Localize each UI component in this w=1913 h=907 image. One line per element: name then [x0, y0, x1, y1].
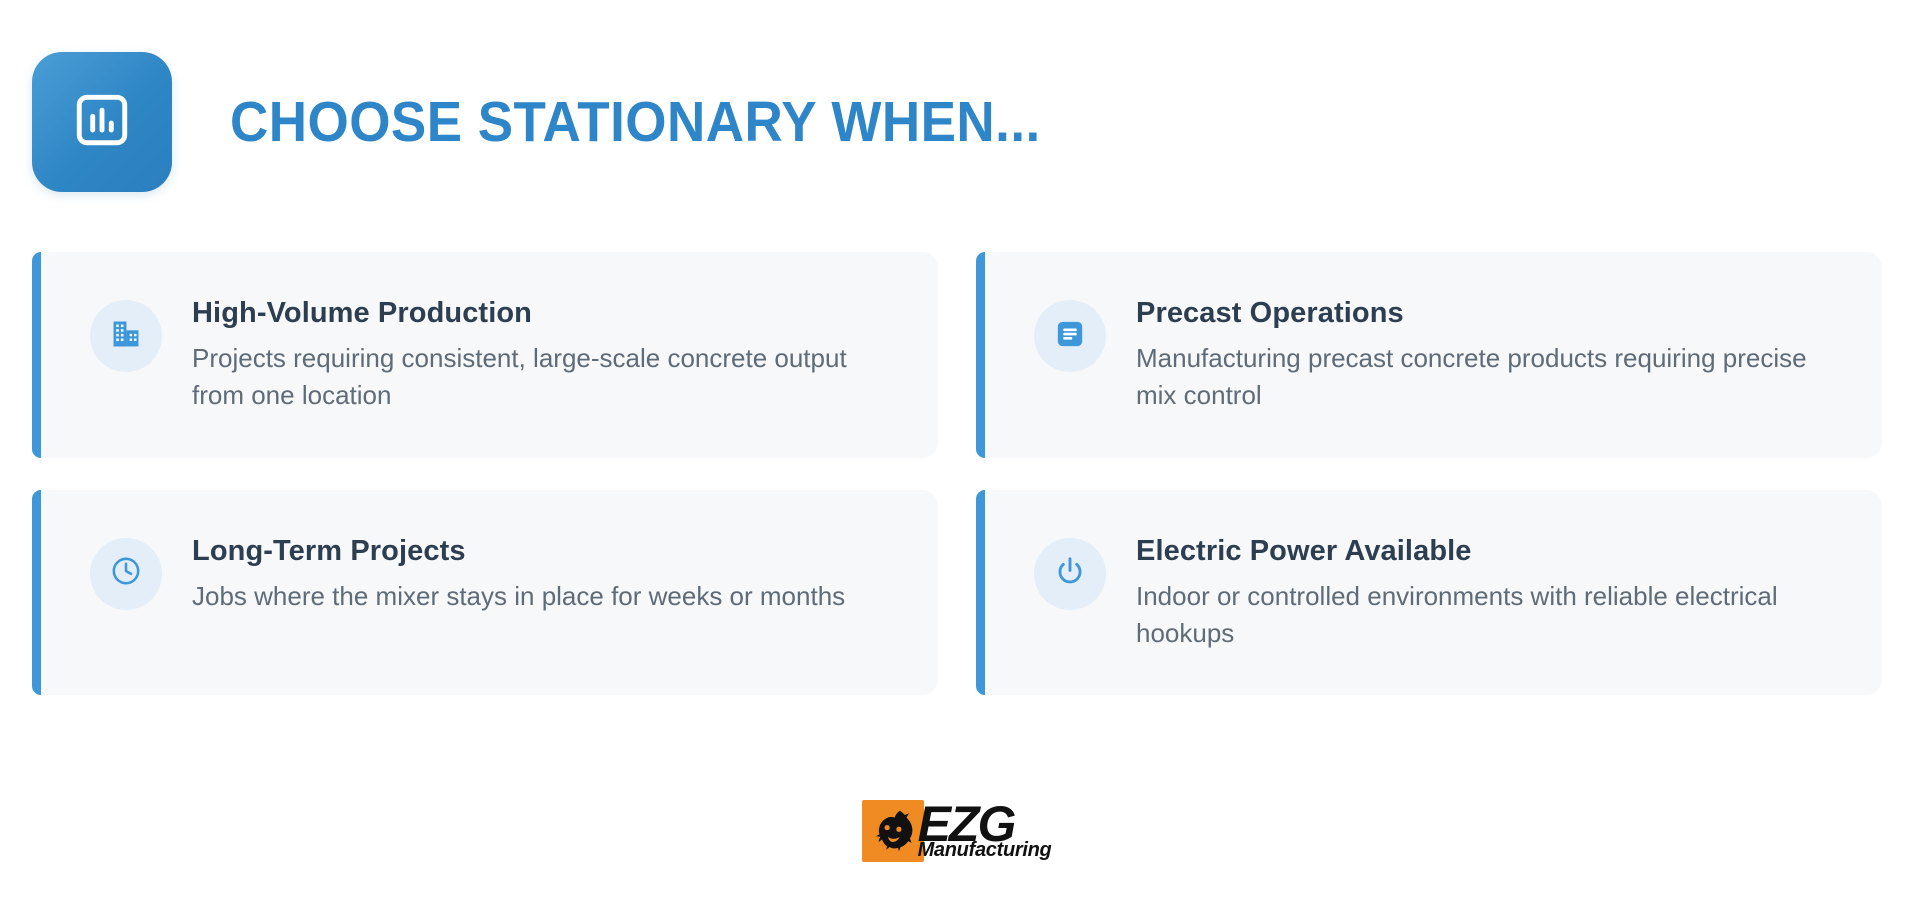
boar-head-logo-icon	[862, 800, 924, 862]
power-icon	[1053, 554, 1087, 593]
card-icon-badge	[90, 300, 162, 372]
header: CHOOSE STATIONARY WHEN...	[32, 52, 1102, 192]
card-title: Precast Operations	[1136, 298, 1836, 330]
card-description: Manufacturing precast concrete products …	[1136, 340, 1836, 414]
card-description: Jobs where the mixer stays in place for …	[192, 578, 845, 615]
ezg-manufacturing-logo: EZG Manufacturing	[862, 800, 1052, 862]
clock-icon	[109, 554, 143, 593]
infographic-page: CHOOSE STATIONARY WHEN...	[0, 0, 1913, 907]
card-electric-power-available[interactable]: Electric Power Available Indoor or contr…	[976, 490, 1882, 696]
card-description: Projects requiring consistent, large-sca…	[192, 340, 892, 414]
card-title: Electric Power Available	[1136, 536, 1836, 568]
card-icon-badge	[1034, 538, 1106, 610]
page-title: CHOOSE STATIONARY WHEN...	[230, 89, 1041, 155]
document-lines-icon	[1053, 317, 1087, 356]
card-title: High-Volume Production	[192, 298, 892, 330]
card-icon-badge	[1034, 300, 1106, 372]
card-title: Long-Term Projects	[192, 536, 845, 568]
card-precast-operations[interactable]: Precast Operations Manufacturing precast…	[976, 252, 1882, 458]
card-long-term-projects[interactable]: Long-Term Projects Jobs where the mixer …	[32, 490, 938, 696]
header-icon-tile	[32, 52, 172, 192]
card-description: Indoor or controlled environments with r…	[1136, 578, 1836, 652]
footer: EZG Manufacturing	[0, 800, 1913, 862]
cards-grid: High-Volume Production Projects requirin…	[32, 252, 1882, 695]
card-body: High-Volume Production Projects requirin…	[192, 296, 892, 414]
card-body: Precast Operations Manufacturing precast…	[1136, 296, 1836, 414]
card-body: Long-Term Projects Jobs where the mixer …	[192, 534, 845, 615]
logo-brand-sub: Manufacturing	[918, 842, 1052, 860]
building-icon	[109, 317, 143, 356]
card-body: Electric Power Available Indoor or contr…	[1136, 534, 1836, 652]
bar-chart-square-icon	[71, 89, 133, 156]
card-icon-badge	[90, 538, 162, 610]
card-high-volume-production[interactable]: High-Volume Production Projects requirin…	[32, 252, 938, 458]
logo-wordmark: EZG Manufacturing	[918, 802, 1052, 860]
